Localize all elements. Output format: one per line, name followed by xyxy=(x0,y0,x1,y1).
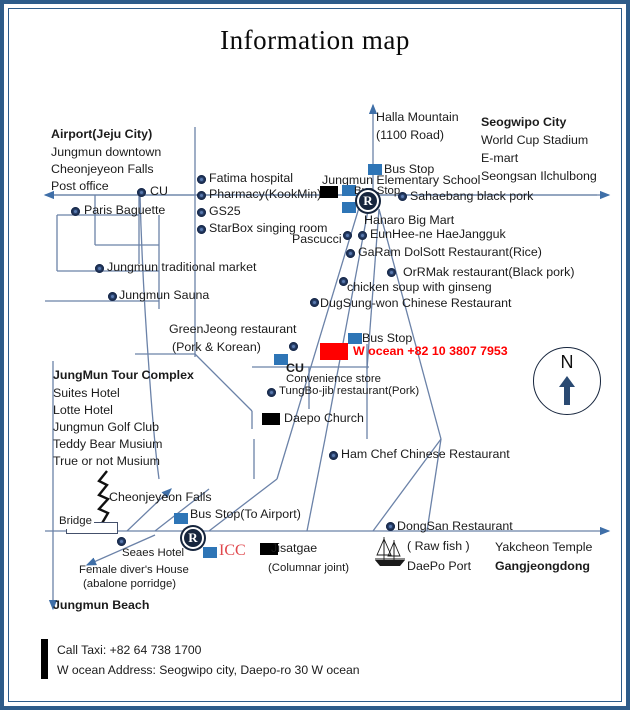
label-world-cup-stadium: World Cup Stadium xyxy=(481,133,588,149)
map-frame-inner: Information map xyxy=(8,8,622,702)
label-jungmun-tour-heading: JungMun Tour Complex xyxy=(53,368,194,384)
footer-accent-bar xyxy=(41,639,48,679)
label-gs25: GS25 xyxy=(209,204,241,220)
label-chicken-soup: chicken soup with ginseng xyxy=(347,280,492,296)
marker-bus-stop-top xyxy=(368,164,382,175)
roundabout-icon-upper: R xyxy=(357,190,379,212)
marker-bus-stop-wocean xyxy=(348,333,362,344)
label-pascucci: Pascucci xyxy=(292,232,342,248)
marker-bus-stop-r-b xyxy=(342,202,356,213)
label-bridge: Bridge xyxy=(57,514,94,529)
label-greenjeong-line2: (Pork & Korean) xyxy=(172,340,261,356)
label-cu-north: CU xyxy=(150,184,168,200)
label-jungmun-beach: Jungmun Beach xyxy=(53,598,149,614)
label-lotte-hotel: Lotte Hotel xyxy=(53,403,113,419)
stream-zigzag xyxy=(99,471,108,525)
label-sahaebang: Sahaebang black pork xyxy=(410,189,533,205)
label-yakcheon-temple: Yakcheon Temple xyxy=(495,540,592,556)
label-emart: E-mart xyxy=(481,151,518,167)
roundabout-icon-lower: R xyxy=(182,527,204,549)
label-fatima-hospital: Fatima hospital xyxy=(209,171,293,187)
label-ham-chef: Ham Chef Chinese Restaurant xyxy=(341,447,510,463)
marker-greenjeong xyxy=(289,342,298,351)
label-seogwipo-heading: Seogwipo City xyxy=(481,115,566,131)
label-dugsungwon: DugSung-won Chinese Restaurant xyxy=(320,296,511,312)
marker-sahaebang xyxy=(398,192,407,201)
label-cheonjeyeon-falls-bottom: Cheonjeyeon Falls xyxy=(109,490,212,506)
marker-bus-stop-to-airport xyxy=(174,513,188,524)
marker-jungmun-market xyxy=(95,264,104,273)
label-airport-heading: Airport(Jeju City) xyxy=(51,127,152,143)
label-paris-baguette: Paris Baguette xyxy=(84,203,165,219)
label-post-office: Post office xyxy=(51,179,109,195)
marker-ormak xyxy=(387,268,396,277)
marker-dongsan xyxy=(386,522,395,531)
marker-eunhee-a xyxy=(343,231,352,240)
label-jisatgae-sub: (Columnar joint) xyxy=(268,561,349,576)
marker-paris-baguette xyxy=(71,207,80,216)
information-map-page: Information map xyxy=(0,0,630,710)
label-ormak: OrRMak restaurant(Black pork) xyxy=(403,265,574,281)
compass-north-icon: N xyxy=(533,347,601,415)
marker-gs25 xyxy=(197,208,206,217)
label-greenjeong-line1: GreenJeong restaurant xyxy=(169,322,296,338)
label-bus-stop-top: Bus Stop xyxy=(384,162,434,178)
label-bus-stop-to-airport: Bus Stop(To Airport) xyxy=(190,507,301,523)
marker-w-ocean xyxy=(320,343,348,360)
marker-daepo-church xyxy=(262,413,280,425)
marker-seaes-hotel xyxy=(117,537,126,546)
label-icc: ICC xyxy=(219,541,246,561)
marker-jungmun-sauna xyxy=(108,292,117,301)
label-garam: GaRam DolSott Restaurant(Rice) xyxy=(358,245,542,261)
marker-pharmacy xyxy=(197,191,206,200)
label-teddy-bear-musium: Teddy Bear Musium xyxy=(53,437,163,453)
label-female-divers-sub: (abalone porridge) xyxy=(83,577,176,592)
marker-garam xyxy=(346,249,355,258)
label-true-or-not-musium: True or not Musium xyxy=(53,454,160,470)
label-raw-fish: ( Raw fish ) xyxy=(407,539,470,555)
compass-north-label: N xyxy=(534,352,600,373)
label-suites-hotel: Suites Hotel xyxy=(53,386,120,402)
label-jisatgae: Jisatgae xyxy=(271,541,317,557)
label-daepo-church: Daepo Church xyxy=(284,411,364,427)
footer-call-taxi: Call Taxi: +82 64 738 1700 xyxy=(57,643,201,657)
label-daepo-port: DaePo Port xyxy=(407,559,471,575)
label-tungbojib: TungBo-jib restaurant(Pork) xyxy=(279,384,419,399)
label-jungmun-golf-club: Jungmun Golf Club xyxy=(53,420,159,436)
marker-eunhee-b xyxy=(358,231,367,240)
label-eunhee: EunHee-ne HaeJangguk xyxy=(370,227,506,243)
marker-ham-chef xyxy=(329,451,338,460)
label-pharmacy: Pharmacy(KookMin) xyxy=(209,187,321,203)
marker-dugsungwon xyxy=(310,298,319,307)
label-halla-1100-road: (1100 Road) xyxy=(376,128,444,144)
label-seongsan-ilchulbong: Seongsan Ilchulbong xyxy=(481,169,597,185)
label-dongsan: DongSan Restaurant xyxy=(397,519,513,535)
marker-starbox xyxy=(197,225,206,234)
label-jungmun-market: Jungmun traditional market xyxy=(107,260,256,276)
marker-fatima-hospital xyxy=(197,175,206,184)
label-female-divers-house: Female diver's House xyxy=(79,563,189,578)
label-cheonjeyeon-falls-top: Cheonjeyeon Falls xyxy=(51,162,154,178)
label-jungmun-sauna: Jungmun Sauna xyxy=(119,288,209,304)
marker-cu-north xyxy=(137,188,146,197)
sailing-ship-icon xyxy=(371,535,409,569)
label-gangjeongdong: Gangjeongdong xyxy=(495,559,590,575)
label-jungmun-downtown: Jungmun downtown xyxy=(51,145,161,161)
footer-address: W ocean Address: Seogwipo city, Daepo-ro… xyxy=(57,663,360,677)
marker-tungbojib xyxy=(267,388,276,397)
marker-icc xyxy=(203,547,217,558)
label-halla-mountain: Halla Mountain xyxy=(376,110,459,126)
label-seaes-hotel: Seaes Hotel xyxy=(122,546,184,561)
label-w-ocean: W ocean +82 10 3807 7953 xyxy=(353,344,508,360)
